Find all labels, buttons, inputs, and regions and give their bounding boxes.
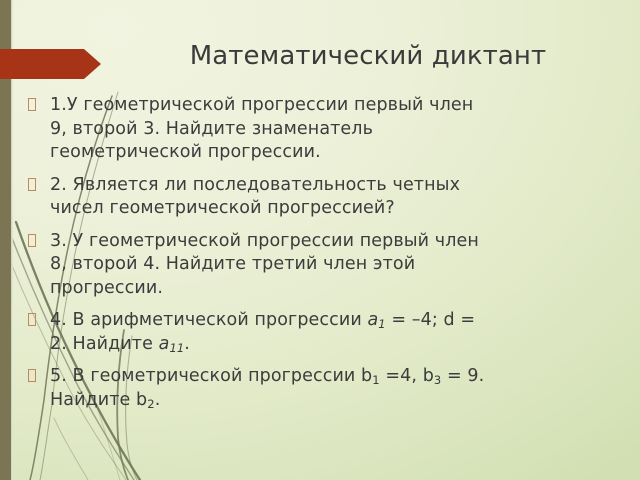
math-variable-a11: a <box>159 334 170 354</box>
presentation-slide: Математический диктант 1.У геометрическо… <box>0 0 640 480</box>
math-subscript-b2: 2 <box>147 397 154 411</box>
list-item-text-math: 5. В геометрической прогрессии b1 =4, b3… <box>50 365 560 412</box>
list-item-text-math: 4. В арифметической прогрессии a1 = –4; … <box>50 309 495 356</box>
page-title: Математический диктант <box>118 40 618 72</box>
list-item-text: 3. У геометрической прогрессии первый чл… <box>50 230 490 301</box>
hollow-box-bullet-icon <box>28 230 50 250</box>
hollow-box-bullet-icon <box>28 309 50 329</box>
math-subscript-11: 11 <box>169 341 184 355</box>
math-prefix: 4. В арифметической прогрессии <box>50 310 367 330</box>
math-subscript-b3: 3 <box>434 373 441 387</box>
list-item: 2. Является ли последовательность четных… <box>28 174 616 221</box>
hollow-box-bullet-icon <box>28 365 50 385</box>
math-suffix: . <box>184 334 190 354</box>
math-suffix: . <box>155 390 161 410</box>
list-item: 5. В геометрической прогрессии b1 =4, b3… <box>28 365 616 412</box>
math-variable-a1: a <box>367 310 378 330</box>
bullet-list: 1.У геометрической прогрессии первый чле… <box>28 94 616 421</box>
hollow-box-bullet-icon <box>28 174 50 194</box>
math-prefix: 5. В геометрической прогрессии b <box>50 366 372 386</box>
math-subscript-b1: 1 <box>372 373 379 387</box>
math-middle: =4, b <box>380 366 434 386</box>
hollow-box-bullet-icon <box>28 94 50 114</box>
list-item: 1.У геометрической прогрессии первый чле… <box>28 94 616 165</box>
list-item: 4. В арифметической прогрессии a1 = –4; … <box>28 309 616 356</box>
list-item-text: 2. Является ли последовательность четных… <box>50 174 502 221</box>
arrow-banner-icon <box>0 49 101 79</box>
list-item-text: 1.У геометрической прогрессии первый чле… <box>50 94 490 165</box>
math-subscript-1: 1 <box>378 317 385 331</box>
list-item: 3. У геометрической прогрессии первый чл… <box>28 230 616 301</box>
